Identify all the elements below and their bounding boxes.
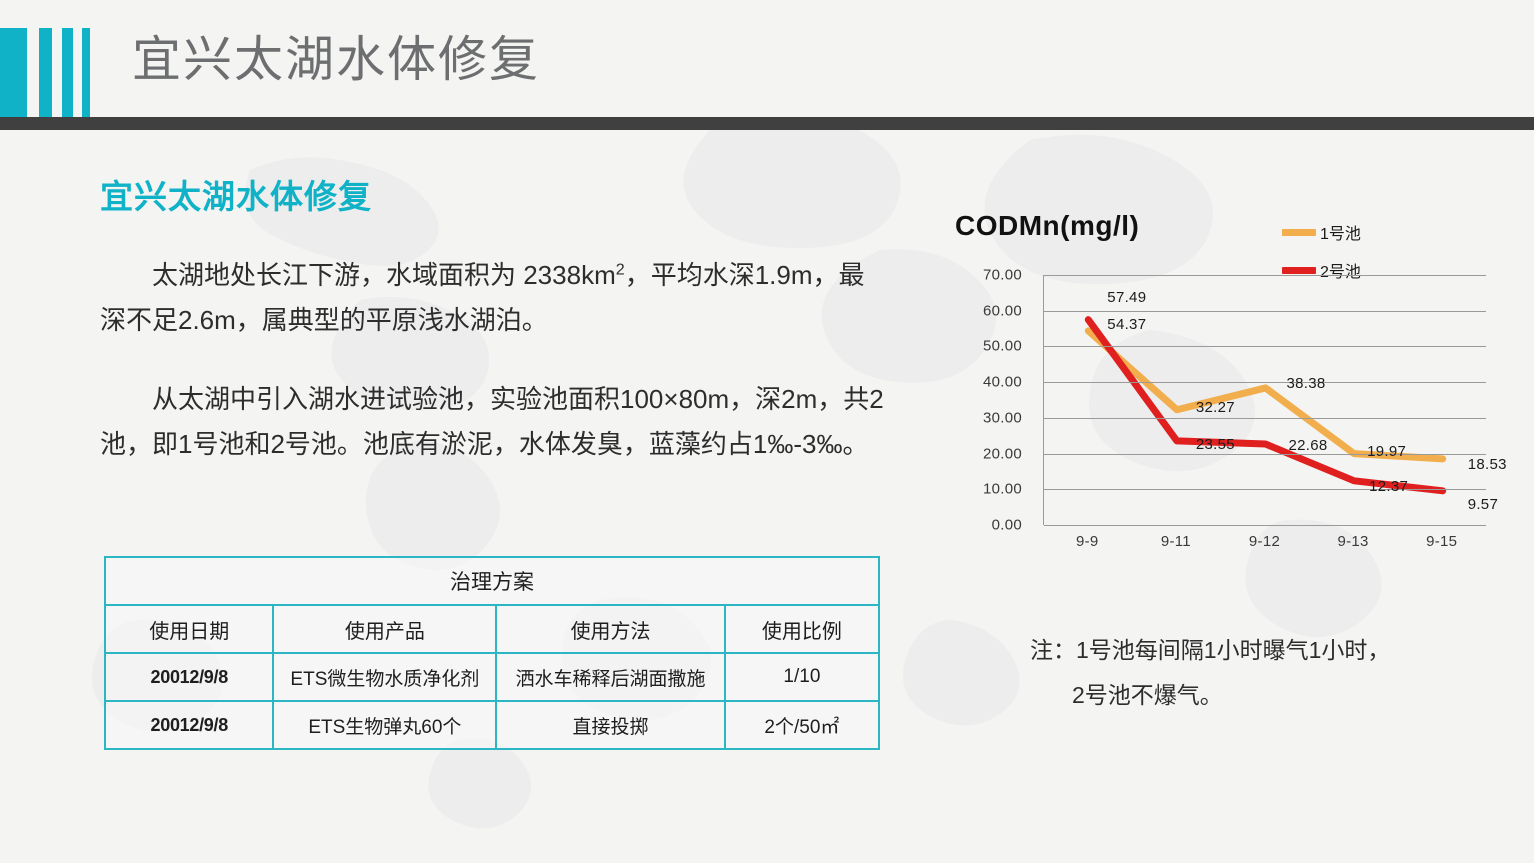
table-row: 20012/9/8 ETS微生物水质净化剂 洒水车稀释后湖面撒施 1/10 bbox=[105, 653, 879, 701]
cell-product: ETS微生物水质净化剂 bbox=[273, 653, 496, 701]
cell-ratio: 1/10 bbox=[725, 653, 879, 701]
x-axis-tick-label: 9-11 bbox=[1161, 533, 1191, 550]
table-header-ratio: 使用比例 bbox=[725, 605, 879, 653]
left-content-column: 宜兴太湖水体修复 太湖地处长江下游，水域面积为 2338km2，平均水深1.9m… bbox=[100, 175, 890, 501]
cell-method: 直接投掷 bbox=[496, 701, 724, 749]
chart-y-axis: 0.0010.0020.0030.0040.0050.0060.0070.00 bbox=[960, 275, 1026, 525]
section-title: 宜兴太湖水体修复 bbox=[100, 175, 890, 219]
legend-swatch-icon bbox=[1282, 229, 1316, 236]
chart-gridline bbox=[1044, 418, 1486, 419]
chart-note: 注：1号池每间隔1小时曝气1小时， 2号池不爆气。 bbox=[1030, 628, 1470, 718]
data-point-label: 54.37 bbox=[1107, 316, 1146, 333]
note-line-2: 2号池不爆气。 bbox=[1030, 673, 1470, 718]
x-axis-tick-label: 9-9 bbox=[1076, 533, 1099, 550]
table-header-product: 使用产品 bbox=[273, 605, 496, 653]
chart-series-lines bbox=[1044, 275, 1487, 525]
cell-method: 洒水车稀释后湖面撒施 bbox=[496, 653, 724, 701]
data-point-label: 9.57 bbox=[1468, 496, 1498, 513]
accent-bar-1 bbox=[0, 28, 27, 117]
chart-gridline bbox=[1044, 489, 1486, 490]
chart-gridline bbox=[1044, 382, 1486, 383]
chart-gridline bbox=[1044, 525, 1486, 526]
chart-gridline bbox=[1044, 346, 1486, 347]
x-axis-tick-label: 9-13 bbox=[1337, 533, 1368, 550]
chart-plot-area bbox=[1043, 275, 1486, 525]
chart-plot-wrapper: 0.0010.0020.0030.0040.0050.0060.0070.00 … bbox=[960, 275, 1490, 560]
paragraph-test-ponds: 从太湖中引入湖水进试验池，实验池面积100×80m，深2m，共2池，即1号池和2… bbox=[100, 377, 890, 467]
cell-product: ETS生物弹丸60个 bbox=[273, 701, 496, 749]
header-accent-bars bbox=[0, 28, 90, 117]
chart-gridline bbox=[1044, 311, 1486, 312]
data-point-label: 23.55 bbox=[1196, 436, 1235, 453]
paragraph-1-superscript: 2 bbox=[616, 260, 625, 278]
data-point-label: 32.27 bbox=[1196, 399, 1235, 416]
cell-ratio: 2个/50㎡ bbox=[725, 701, 879, 749]
table-caption-row: 治理方案 bbox=[105, 557, 879, 605]
y-axis-tick-label: 20.00 bbox=[983, 445, 1022, 462]
series-line bbox=[1088, 320, 1442, 491]
y-axis-tick-label: 0.00 bbox=[992, 517, 1022, 534]
y-axis-tick-label: 40.00 bbox=[983, 374, 1022, 391]
chart-gridline bbox=[1044, 275, 1486, 276]
table-header-method: 使用方法 bbox=[496, 605, 724, 653]
data-point-label: 57.49 bbox=[1107, 289, 1146, 306]
slide-header: 宜兴太湖水体修复 bbox=[0, 0, 1534, 117]
chart-x-axis: 9-99-119-129-139-15 bbox=[1043, 533, 1486, 561]
paragraph-lake-overview: 太湖地处长江下游，水域面积为 2338km2，平均水深1.9m，最深不足2.6m… bbox=[100, 253, 890, 343]
accent-bar-2 bbox=[39, 28, 52, 117]
data-point-label: 12.37 bbox=[1369, 478, 1408, 495]
header-divider bbox=[0, 117, 1534, 130]
chart-title: CODMn(mg/l) bbox=[955, 210, 1139, 242]
x-axis-tick-label: 9-12 bbox=[1249, 533, 1280, 550]
y-axis-tick-label: 30.00 bbox=[983, 409, 1022, 426]
cell-date: 20012/9/8 bbox=[105, 701, 273, 749]
y-axis-tick-label: 60.00 bbox=[983, 302, 1022, 319]
data-point-label: 38.38 bbox=[1287, 375, 1326, 392]
y-axis-tick-label: 10.00 bbox=[983, 481, 1022, 498]
treatment-plan-table: 治理方案 使用日期 使用产品 使用方法 使用比例 20012/9/8 ETS微生… bbox=[104, 556, 880, 750]
table-header-row: 使用日期 使用产品 使用方法 使用比例 bbox=[105, 605, 879, 653]
page-title: 宜兴太湖水体修复 bbox=[132, 30, 540, 90]
table-caption-cell: 治理方案 bbox=[105, 557, 879, 605]
note-line-1: 注：1号池每间隔1小时曝气1小时， bbox=[1030, 628, 1470, 673]
data-point-label: 18.53 bbox=[1468, 456, 1507, 473]
table-row: 20012/9/8 ETS生物弹丸60个 直接投掷 2个/50㎡ bbox=[105, 701, 879, 749]
x-axis-tick-label: 9-15 bbox=[1426, 533, 1457, 550]
cell-date: 20012/9/8 bbox=[105, 653, 273, 701]
slide-root: 宜兴太湖水体修复 宜兴太湖水体修复 太湖地处长江下游，水域面积为 2338km2… bbox=[0, 0, 1534, 863]
accent-bar-4 bbox=[82, 28, 90, 117]
legend-item-series-1: 1号池 bbox=[1282, 213, 1422, 251]
data-point-label: 22.68 bbox=[1289, 437, 1328, 454]
paragraph-1-part-a: 太湖地处长江下游，水域面积为 2338km bbox=[152, 260, 616, 290]
codmn-line-chart: CODMn(mg/l) 1号池 2号池 0.0010.0020.0030.004… bbox=[940, 195, 1500, 565]
table-header-date: 使用日期 bbox=[105, 605, 273, 653]
y-axis-tick-label: 50.00 bbox=[983, 338, 1022, 355]
legend-swatch-icon bbox=[1282, 267, 1316, 274]
data-point-label: 19.97 bbox=[1367, 443, 1406, 460]
chart-gridline bbox=[1044, 454, 1486, 455]
accent-bar-3 bbox=[62, 28, 73, 117]
legend-label: 1号池 bbox=[1320, 220, 1361, 244]
y-axis-tick-label: 70.00 bbox=[983, 267, 1022, 284]
